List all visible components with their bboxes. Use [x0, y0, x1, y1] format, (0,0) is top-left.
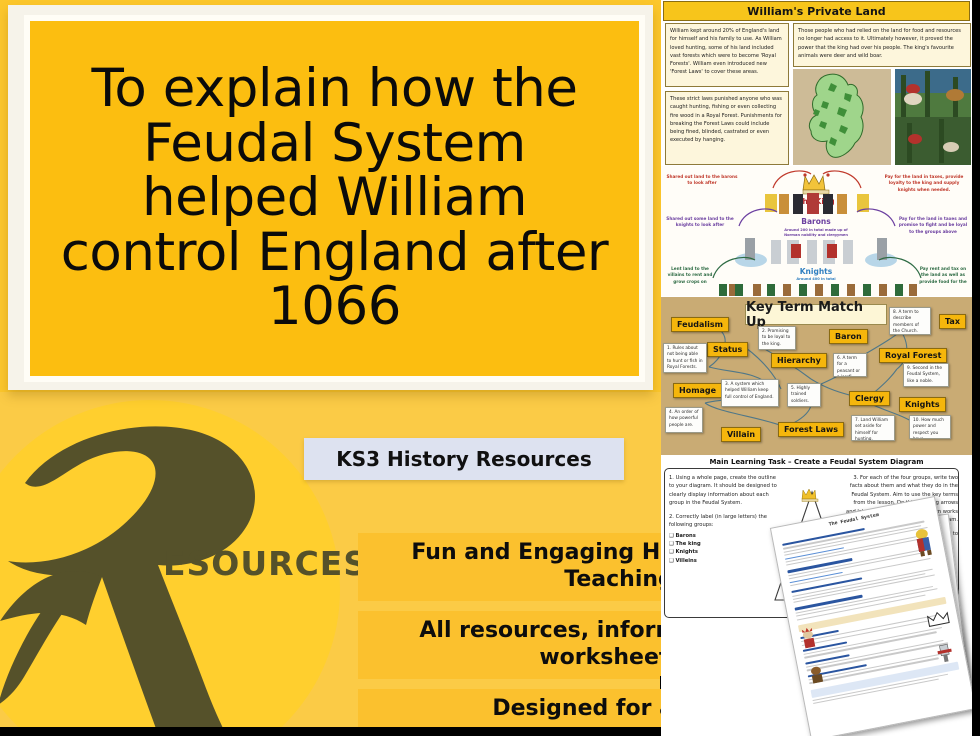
preview-key-term-match-up: Key Term Match Up Feudalism Status Homag… — [661, 297, 972, 455]
ktm-term-villain: Villain — [721, 427, 761, 442]
ktm-term-homage: Homage — [673, 383, 722, 398]
bottom-black-border — [0, 727, 661, 736]
title-card-inner: To explain how the Feudal System helped … — [30, 21, 639, 376]
pyramid-right-note-3: Pay rent and tax on the land as well as … — [917, 266, 969, 285]
pyramid-left-note-1: Shared out land to the barons to look af… — [665, 174, 739, 187]
ktm-def-8: 8. A term to describe members of the Chu… — [889, 307, 931, 335]
svg-text:Around 400 in total: Around 400 in total — [796, 277, 835, 281]
ktm-title: Key Term Match Up — [745, 304, 887, 325]
pyramid-left-note-2: Shared out some land to the knights to l… — [665, 216, 735, 229]
wpl-text-box-1: William kept around 20% of England's lan… — [665, 23, 789, 87]
svg-text:Around 200 in total made up of: Around 200 in total made up of — [784, 228, 848, 232]
ks3-banner-label: KS3 History Resources — [336, 447, 591, 471]
right-black-border — [972, 0, 980, 736]
ktm-term-status: Status — [707, 342, 748, 357]
ktm-term-hierarchy: Hierarchy — [771, 353, 827, 368]
ktm-def-7: 7. Land William set aside for himself fo… — [851, 415, 895, 441]
page-title: To explain how the Feudal System helped … — [55, 62, 614, 335]
ktm-term-royal-forest: Royal Forest — [879, 348, 947, 363]
ktm-title-label: Key Term Match Up — [746, 300, 886, 330]
ktm-def-5: 5. Highly trained soldiers. — [787, 383, 821, 407]
ktm-term-feudalism: Feudalism — [671, 317, 729, 332]
worksheet-front: The Feudal System — [770, 496, 972, 736]
ktm-term-baron: Baron — [829, 329, 868, 344]
slide-previews-column: William's Private Land William kept arou… — [661, 0, 972, 736]
ktm-def-1: 1. Rules about not being able to hunt or… — [663, 343, 707, 373]
mlt-instructions-left: 1. Using a whole page, create the outlin… — [669, 474, 779, 565]
ktm-term-forest-laws: Forest Laws — [778, 422, 844, 437]
svg-text:Norman nobility and clergymen: Norman nobility and clergymen — [784, 233, 848, 237]
ktm-def-3: 3. A system which helped William keep fu… — [721, 379, 779, 407]
wpl-text-box-2: These strict laws punished anyone who wa… — [665, 91, 789, 165]
pyramid-right-note-2: Pay for the land in taxes and promise to… — [897, 216, 969, 235]
ktm-term-tax: Tax — [939, 314, 966, 329]
mlt-check-king: The king — [675, 541, 700, 547]
mlt-check-knights: Knights — [675, 549, 697, 555]
ktm-def-9: 9. Second in the Feudal System, like a n… — [903, 363, 949, 387]
wpl-header-title: William's Private Land — [747, 5, 885, 18]
ktm-term-clergy: Clergy — [849, 391, 890, 406]
ktm-term-knights: Knights — [899, 397, 946, 412]
wpl-body: William kept around 20% of England's lan… — [663, 23, 970, 167]
svg-text:Knights: Knights — [800, 267, 833, 276]
mlt-instruction-1: 1. Using a whole page, create the outlin… — [669, 474, 779, 508]
crown-icon — [802, 489, 818, 502]
mlt-instruction-2: 2. Correctly label (in large letters) th… — [669, 513, 779, 530]
preview-main-learning-task: Main Learning Task – Create a Feudal Sys… — [661, 456, 972, 736]
england-map-image — [793, 69, 891, 165]
wpl-header: William's Private Land — [663, 1, 970, 21]
ktm-def-2: 2. Promising to be loyal to the king. — [758, 326, 796, 350]
king-figure-icon — [797, 626, 820, 649]
jester-figure-icon — [908, 524, 939, 558]
pyramid-left-note-3: Lent land to the villains to rent and gr… — [663, 266, 717, 285]
title-card: To explain how the Feudal System helped … — [8, 5, 653, 390]
ktm-def-4: 4. An order of how powerful people are. — [665, 407, 703, 433]
mlt-check-villeins: Villeins — [675, 558, 696, 564]
wpl-text-box-3: Those people who had relied on the land … — [793, 23, 971, 67]
svg-text:Barons: Barons — [801, 217, 831, 226]
poster-canvas: To explain how the Feudal System helped … — [0, 0, 980, 736]
ks3-history-resources-banner: KS3 History Resources — [304, 438, 624, 480]
ktm-def-6: 6. A term for a peasant or a 'serf'. — [833, 353, 867, 377]
knight-figure-icon — [932, 640, 957, 664]
logo-wordmark: ESOURCES — [163, 544, 368, 583]
medieval-hunting-image — [895, 69, 971, 165]
mlt-title: Main Learning Task – Create a Feudal Sys… — [661, 458, 972, 466]
ktm-def-10: 10. How much power and respect you have. — [909, 415, 951, 439]
pyramid-right-note-1: Pay for the land in taxes, provide loyal… — [883, 174, 965, 193]
mlt-check-barons: Barons — [675, 533, 695, 539]
preview-williams-private-land: William's Private Land William kept arou… — [661, 0, 972, 165]
preview-feudal-hierarchy-diagram: The King Barons Around 200 in total made… — [661, 166, 972, 296]
